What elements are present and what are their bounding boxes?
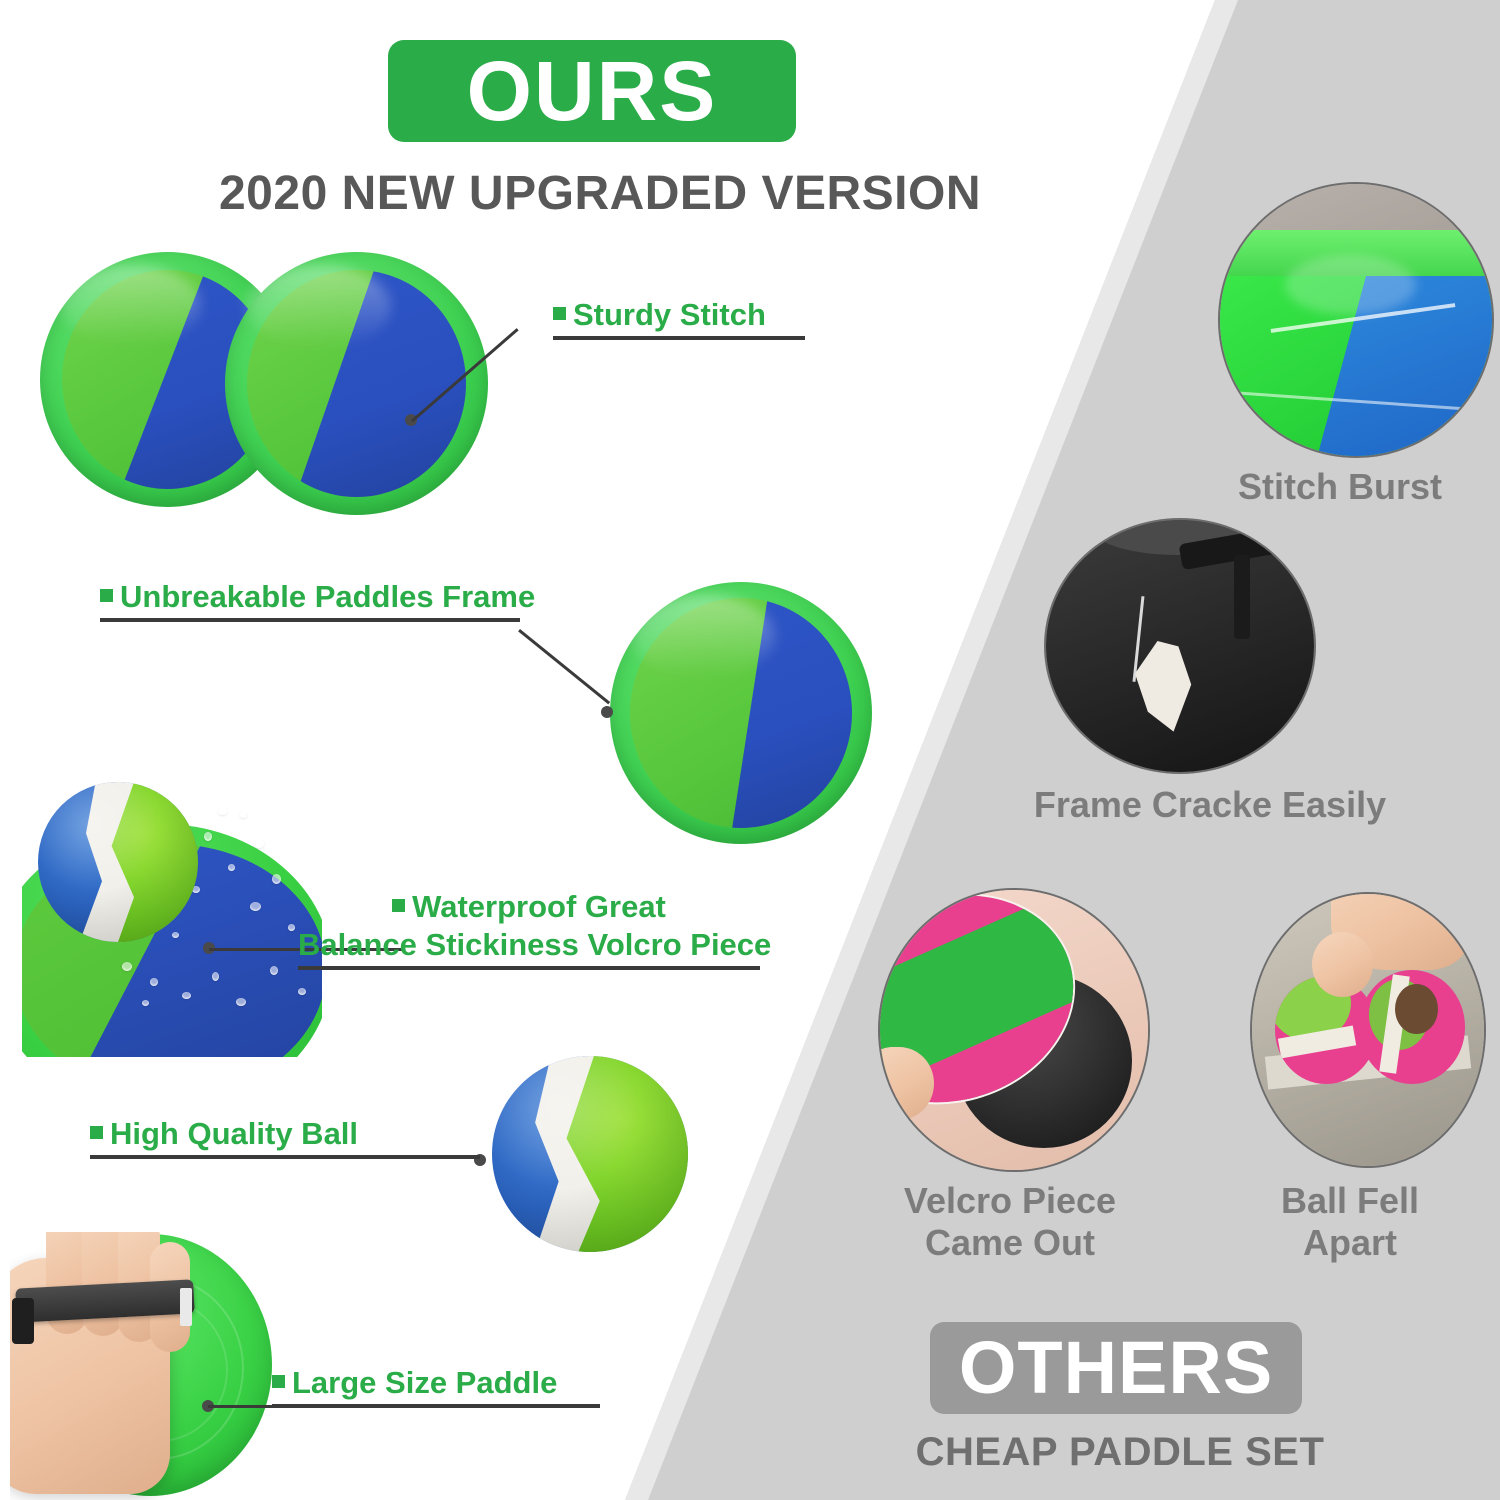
bullet-square-icon <box>392 899 405 912</box>
callout-sturdy-stitch: Sturdy Stitch <box>553 296 805 340</box>
water-droplet <box>240 812 247 818</box>
hand-thumb <box>1312 932 1372 997</box>
paddle-gloss <box>60 265 200 347</box>
water-droplet <box>212 972 219 981</box>
water-droplet <box>254 840 264 848</box>
paddle-image-front <box>225 252 488 515</box>
water-droplet <box>236 998 246 1006</box>
callout-leader-large-size-paddle <box>208 1405 280 1408</box>
ours-badge-label: OURS <box>467 49 718 133</box>
paddle-image-single <box>610 582 872 844</box>
paddle-gloss <box>631 595 775 679</box>
caption-frame-cracke: Frame Cracke Easily <box>960 784 1460 826</box>
others-badge: OTHERS <box>930 1322 1302 1414</box>
water-droplet <box>142 1000 149 1006</box>
callout-underline <box>100 618 520 622</box>
photo-frame-cracke <box>1044 518 1316 774</box>
photo-stitch-burst <box>1218 182 1494 458</box>
callout-anchor-unbreakable-frame <box>601 706 613 718</box>
hand-paddle-photo <box>10 1232 310 1500</box>
strap-velcro-tab <box>180 1288 192 1326</box>
callout-leader-unbreakable-frame <box>518 629 610 704</box>
water-droplet <box>218 808 227 815</box>
photo-velcro-came-out <box>878 888 1150 1172</box>
caption-velcro-came-out: Velcro Piece Came Out <box>860 1180 1160 1265</box>
callout-unbreakable-frame: Unbreakable Paddles Frame <box>100 578 520 622</box>
water-droplet <box>204 832 212 841</box>
bullet-square-icon <box>553 307 566 320</box>
callout-waterproof-velcro: Waterproof Great Balance Stickiness Volc… <box>298 888 760 970</box>
callout-underline <box>553 336 805 340</box>
others-subtitle: CHEAP PADDLE SET <box>880 1430 1360 1475</box>
strap-end <box>1234 555 1250 639</box>
callout-text-line1: Waterproof Great <box>298 888 760 926</box>
infographic-canvas: OURS 2020 NEW UPGRADED VERSION Sturdy St… <box>0 0 1500 1500</box>
ball-image-main <box>492 1056 688 1252</box>
water-droplet <box>270 966 278 975</box>
water-droplet <box>150 978 158 986</box>
ours-badge: OURS <box>388 40 796 142</box>
callout-underline <box>272 1404 600 1408</box>
caption-stitch-burst: Stitch Burst <box>1180 466 1500 508</box>
water-droplet <box>250 902 261 911</box>
water-droplet <box>122 962 132 971</box>
ball-inner-core <box>1395 984 1438 1034</box>
ours-subtitle: 2020 NEW UPGRADED VERSION <box>180 166 1020 221</box>
photo-ball-fell-apart <box>1250 892 1486 1168</box>
others-badge-label: OTHERS <box>959 1331 1273 1405</box>
ball-shading <box>38 782 198 942</box>
callout-text: High Quality Ball <box>90 1115 480 1153</box>
water-droplet <box>272 874 281 884</box>
paddle-gloss <box>246 265 391 349</box>
water-droplet <box>288 924 295 931</box>
caption-ball-fell-apart: Ball Fell Apart <box>1210 1180 1490 1265</box>
water-droplet <box>228 864 235 871</box>
callout-text: Large Size Paddle <box>272 1364 600 1402</box>
ball-on-paddle <box>38 782 198 942</box>
strap-buckle <box>12 1298 34 1344</box>
photo-gloss <box>1285 255 1416 315</box>
bullet-square-icon <box>90 1126 103 1139</box>
bullet-square-icon <box>272 1375 285 1388</box>
bullet-square-icon <box>100 589 113 602</box>
callout-text: Sturdy Stitch <box>553 296 805 334</box>
callout-large-size-paddle: Large Size Paddle <box>272 1364 600 1408</box>
callout-text: Unbreakable Paddles Frame <box>100 578 520 616</box>
callout-text-line2: Balance Stickiness Volcro Piece <box>298 926 760 964</box>
water-droplet <box>182 992 191 999</box>
callout-high-quality-ball: High Quality Ball <box>90 1115 480 1159</box>
water-droplet <box>298 988 306 995</box>
waterproof-paddle-photo <box>22 782 322 1057</box>
ball-shading <box>492 1056 688 1252</box>
callout-underline <box>90 1155 480 1159</box>
broken-ball-right <box>1359 970 1466 1084</box>
callout-underline <box>298 966 760 970</box>
